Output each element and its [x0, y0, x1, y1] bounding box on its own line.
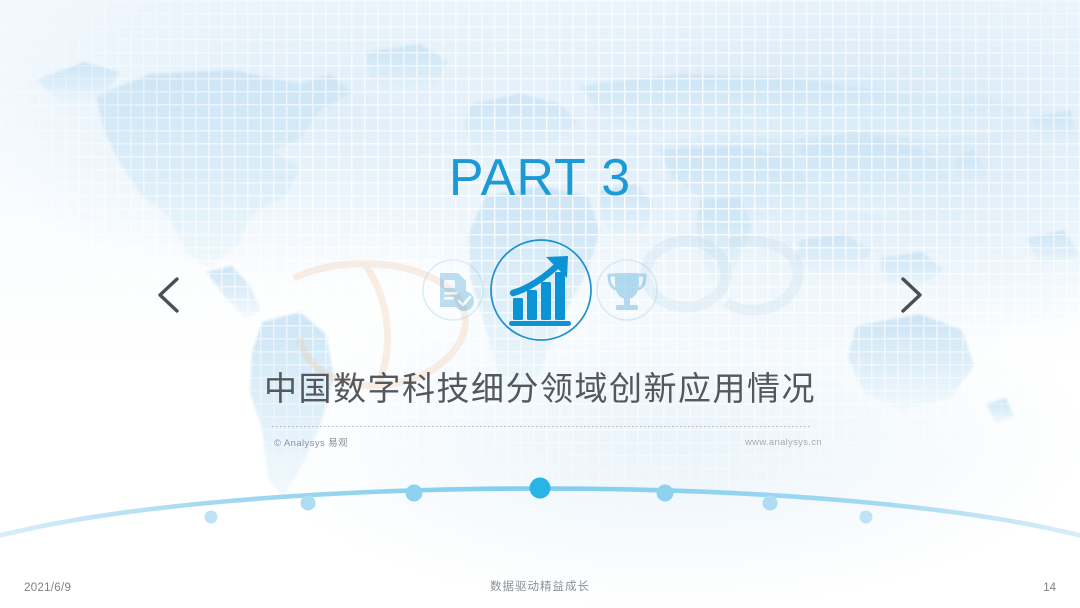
website-url: www.analysys.cn [745, 437, 822, 448]
section-title: 中国数字科技细分领域创新应用情况 [0, 368, 1080, 409]
progress-dot[interactable] [860, 511, 873, 524]
trophy-icon[interactable] [590, 253, 664, 327]
divider-dotted-line [272, 426, 812, 427]
footer-page-number: 14 [1043, 582, 1056, 594]
progress-dot-active[interactable] [530, 478, 551, 499]
bar-chart-growth-icon[interactable] [483, 232, 599, 348]
part-label: PART 3 [0, 150, 1080, 207]
section-icon-cluster [0, 232, 1080, 348]
progress-dot-group [205, 478, 873, 524]
progress-dot[interactable] [406, 485, 423, 502]
copyright-credit: © Analysys 易观 [274, 435, 348, 449]
progress-dot[interactable] [205, 511, 218, 524]
progress-dot[interactable] [763, 496, 778, 511]
progress-dot[interactable] [657, 485, 674, 502]
footer-tagline: 数据驱动精益成长 [0, 578, 1080, 594]
progress-arc [0, 455, 1080, 545]
slide-canvas: PART 3 [0, 0, 1080, 608]
progress-dot[interactable] [301, 496, 316, 511]
document-check-icon[interactable] [416, 253, 490, 327]
